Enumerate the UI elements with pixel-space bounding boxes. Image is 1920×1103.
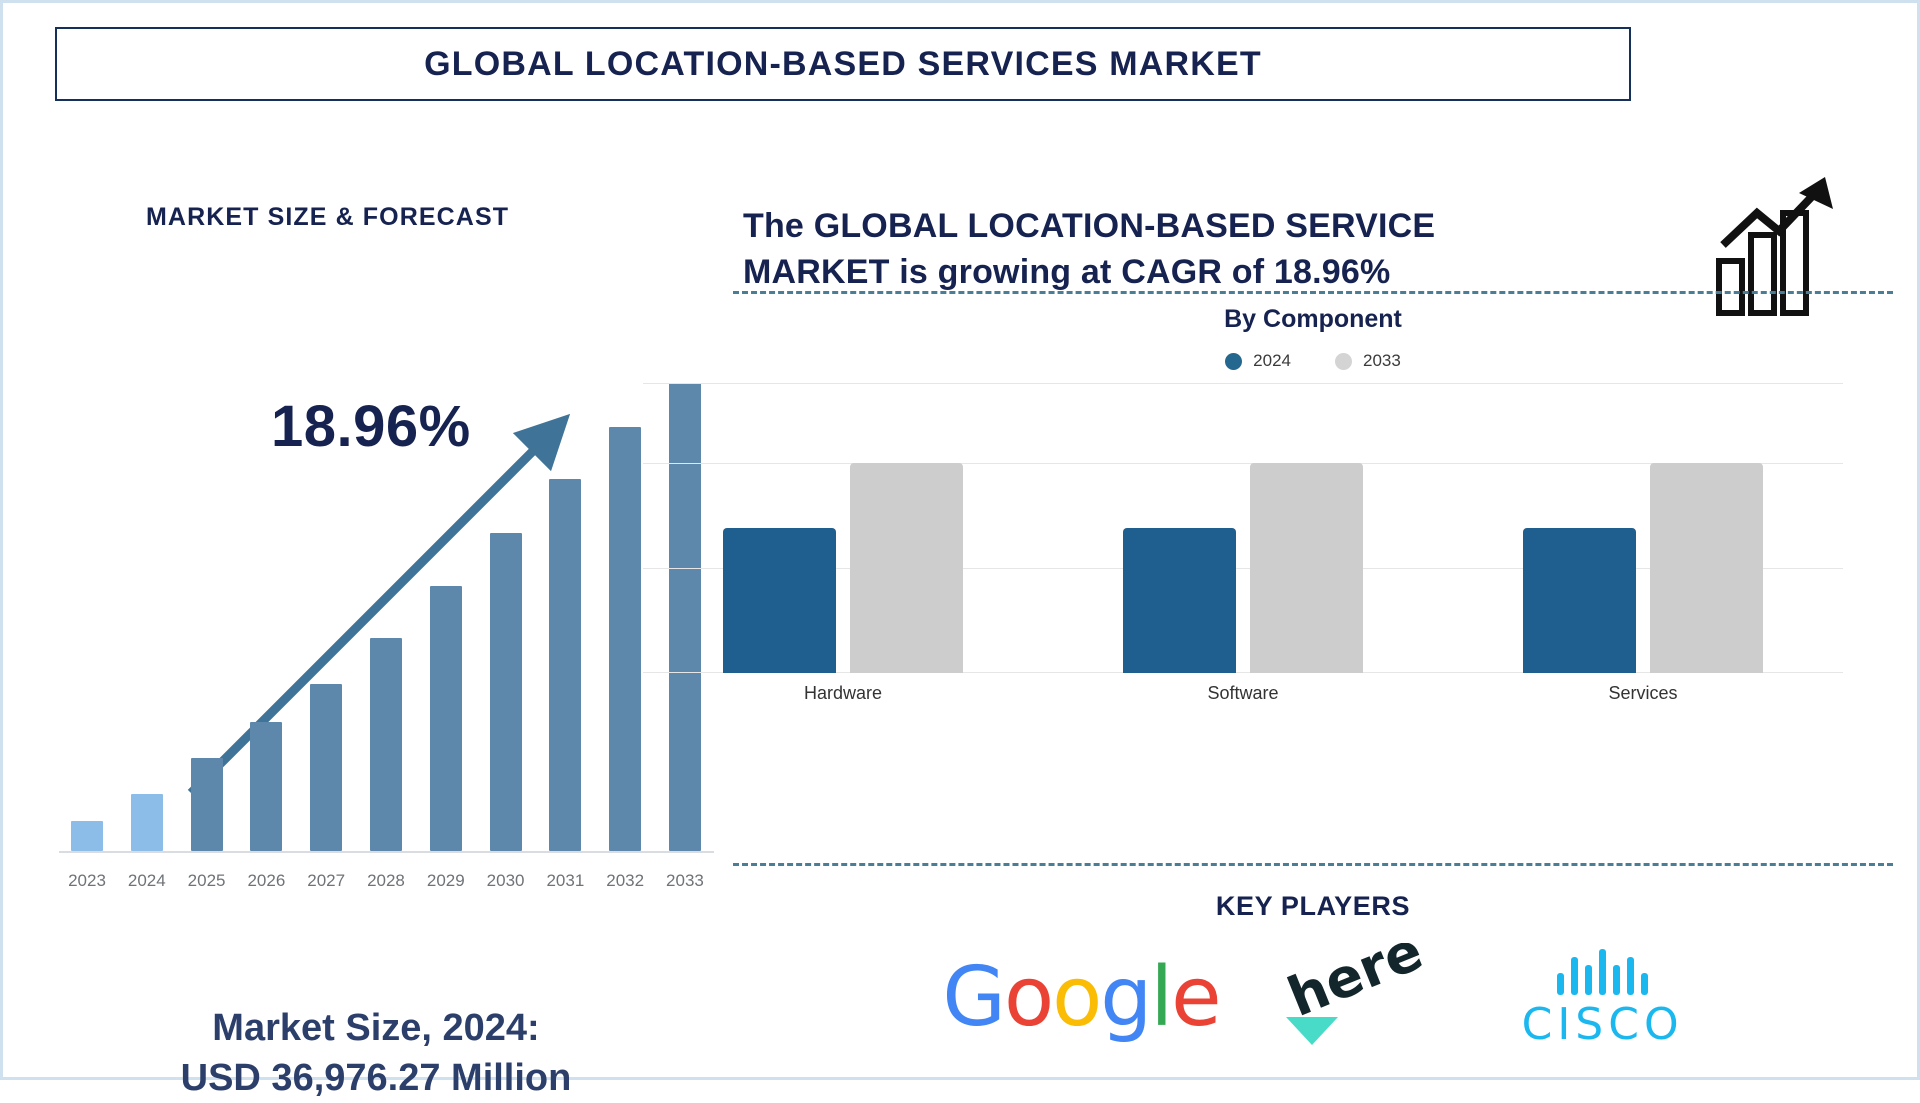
component-category-labels: Hardware Software Services <box>643 683 1843 704</box>
component-group-software <box>1073 383 1413 673</box>
cagr-headline-line2: MARKET is growing at CAGR of 18.96% <box>743 249 1673 295</box>
here-logo-icon: here <box>1276 943 1466 1053</box>
market-size-forecast-panel: MARKET SIZE & FORECAST 18.96% <box>31 123 721 1053</box>
year-label: 2031 <box>539 871 591 891</box>
year-label: 2026 <box>240 871 292 891</box>
year-label: 2027 <box>300 871 352 891</box>
year-label: 2029 <box>420 871 472 891</box>
growth-chart-year-labels: 2023 2024 2025 2026 2027 2028 2029 2030 … <box>61 871 711 891</box>
cisco-bars-icon <box>1557 947 1648 995</box>
legend-label: 2033 <box>1363 351 1401 371</box>
market-growth-bar-chart: 2023 2024 2025 2026 2027 2028 2029 2030 … <box>51 353 721 973</box>
component-bar-2024 <box>723 528 836 673</box>
cagr-headline: The GLOBAL LOCATION-BASED SERVICE MARKET… <box>743 203 1673 295</box>
growth-bar-slot <box>61 361 113 851</box>
market-size-value: USD 36,976.27 Million <box>31 1053 721 1103</box>
cisco-wordmark: CISCO <box>1522 999 1684 1050</box>
market-size-summary: Market Size, 2024: USD 36,976.27 Million <box>31 1003 721 1103</box>
component-group-hardware <box>673 383 1013 673</box>
growth-bar <box>71 821 103 851</box>
growth-bar <box>490 533 522 851</box>
page-title-box: GLOBAL LOCATION-BASED SERVICES MARKET <box>55 27 1631 101</box>
legend-dot-icon <box>1225 353 1242 370</box>
page-title: GLOBAL LOCATION-BASED SERVICES MARKET <box>424 45 1262 84</box>
component-bars-container <box>643 383 1843 673</box>
growth-bar-slot <box>181 361 233 851</box>
component-bar-2033 <box>1650 463 1763 673</box>
market-size-label: Market Size, 2024: <box>212 1007 539 1049</box>
growth-bars-container <box>61 361 711 851</box>
section-heading-market-size: MARKET SIZE & FORECAST <box>146 203 509 232</box>
component-bar-2033 <box>850 463 963 673</box>
year-label: 2032 <box>599 871 651 891</box>
legend-label: 2024 <box>1253 351 1291 371</box>
legend-item-2024: 2024 <box>1225 351 1291 371</box>
growth-bar <box>191 758 223 851</box>
growth-bar-slot <box>480 361 532 851</box>
category-label-software: Software <box>1073 683 1413 704</box>
year-label: 2024 <box>121 871 173 891</box>
growth-bar-slot <box>121 361 173 851</box>
component-bar-2024 <box>1123 528 1236 673</box>
legend-dot-icon <box>1335 353 1352 370</box>
growth-chart-axis <box>59 851 714 853</box>
component-breakdown-panel: The GLOBAL LOCATION-BASED SERVICE MARKET… <box>733 123 1893 1053</box>
growth-bar <box>250 722 282 851</box>
component-chart-title: By Component <box>733 305 1893 334</box>
component-bar-2024 <box>1523 528 1636 673</box>
divider-bottom <box>733 863 1893 866</box>
growth-bar <box>310 684 342 851</box>
growth-bar <box>430 586 462 851</box>
svg-text:here: here <box>1279 943 1431 1029</box>
growth-bar <box>549 479 581 851</box>
legend-item-2033: 2033 <box>1335 351 1401 371</box>
year-label: 2033 <box>659 871 711 891</box>
infographic-page: GLOBAL LOCATION-BASED SERVICES MARKET MA… <box>0 0 1920 1080</box>
growth-bar <box>370 638 402 851</box>
divider-top <box>733 291 1893 294</box>
year-label: 2023 <box>61 871 113 891</box>
year-label: 2030 <box>480 871 532 891</box>
component-chart-legend: 2024 2033 <box>733 351 1893 371</box>
component-bar-2033 <box>1250 463 1363 673</box>
growth-bar-slot <box>300 361 352 851</box>
key-players-logos: Google here CISCO <box>733 933 1893 1063</box>
growth-chart-arrow-icon <box>1713 173 1848 323</box>
year-label: 2025 <box>181 871 233 891</box>
growth-bar <box>131 794 163 851</box>
component-bar-chart <box>643 383 1843 673</box>
growth-bar-slot <box>539 361 591 851</box>
growth-bar <box>609 427 641 851</box>
growth-bar-slot <box>240 361 292 851</box>
cagr-headline-line1: The GLOBAL LOCATION-BASED SERVICE <box>743 207 1435 245</box>
component-group-services <box>1473 383 1813 673</box>
category-label-services: Services <box>1473 683 1813 704</box>
growth-bar-slot <box>360 361 412 851</box>
key-players-title: KEY PLAYERS <box>733 891 1893 922</box>
growth-bar-slot <box>420 361 472 851</box>
cisco-logo: CISCO <box>1522 947 1684 1050</box>
year-label: 2028 <box>360 871 412 891</box>
here-logo: here <box>1276 943 1466 1053</box>
category-label-hardware: Hardware <box>673 683 1013 704</box>
google-logo: Google <box>942 957 1219 1039</box>
